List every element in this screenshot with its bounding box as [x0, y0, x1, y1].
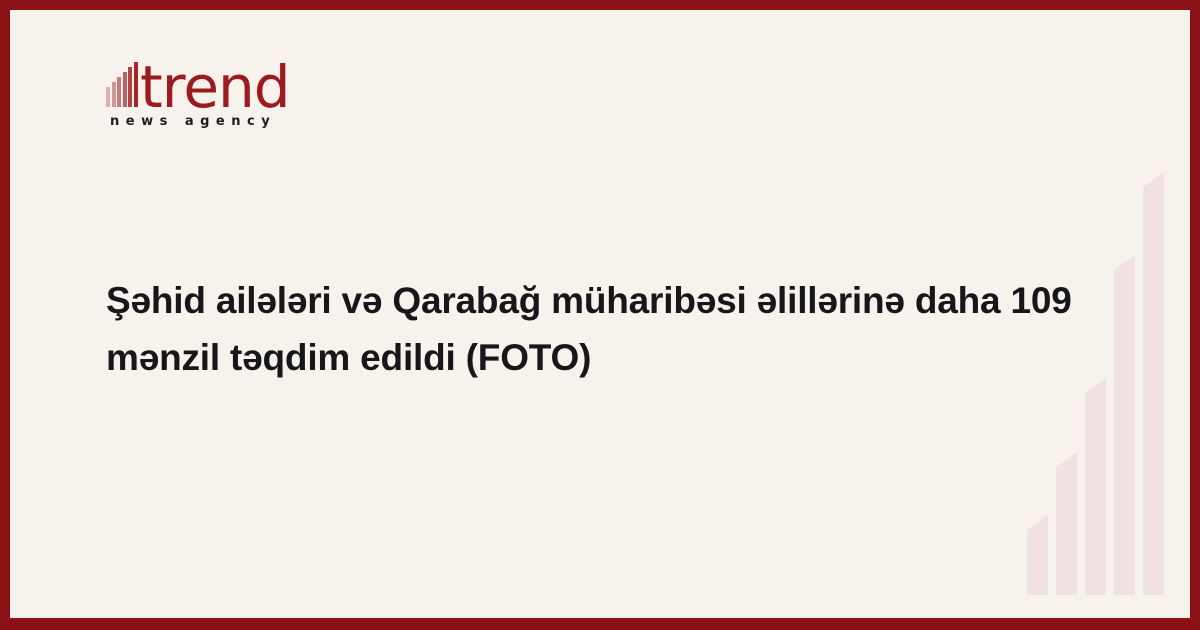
trend-bars-logo-icon: [106, 61, 139, 107]
social-share-card: trend news agency Şəhid ailələri və Qara…: [0, 0, 1200, 630]
brand-logo[interactable]: trend news agency: [106, 50, 286, 129]
card-inner-panel: trend news agency Şəhid ailələri və Qara…: [10, 10, 1190, 618]
article-headline: Şəhid ailələri və Qarabağ müharibəsi əli…: [106, 272, 1106, 386]
logo-mark: trend: [106, 50, 286, 108]
logo-wordmark: trend: [140, 64, 290, 110]
